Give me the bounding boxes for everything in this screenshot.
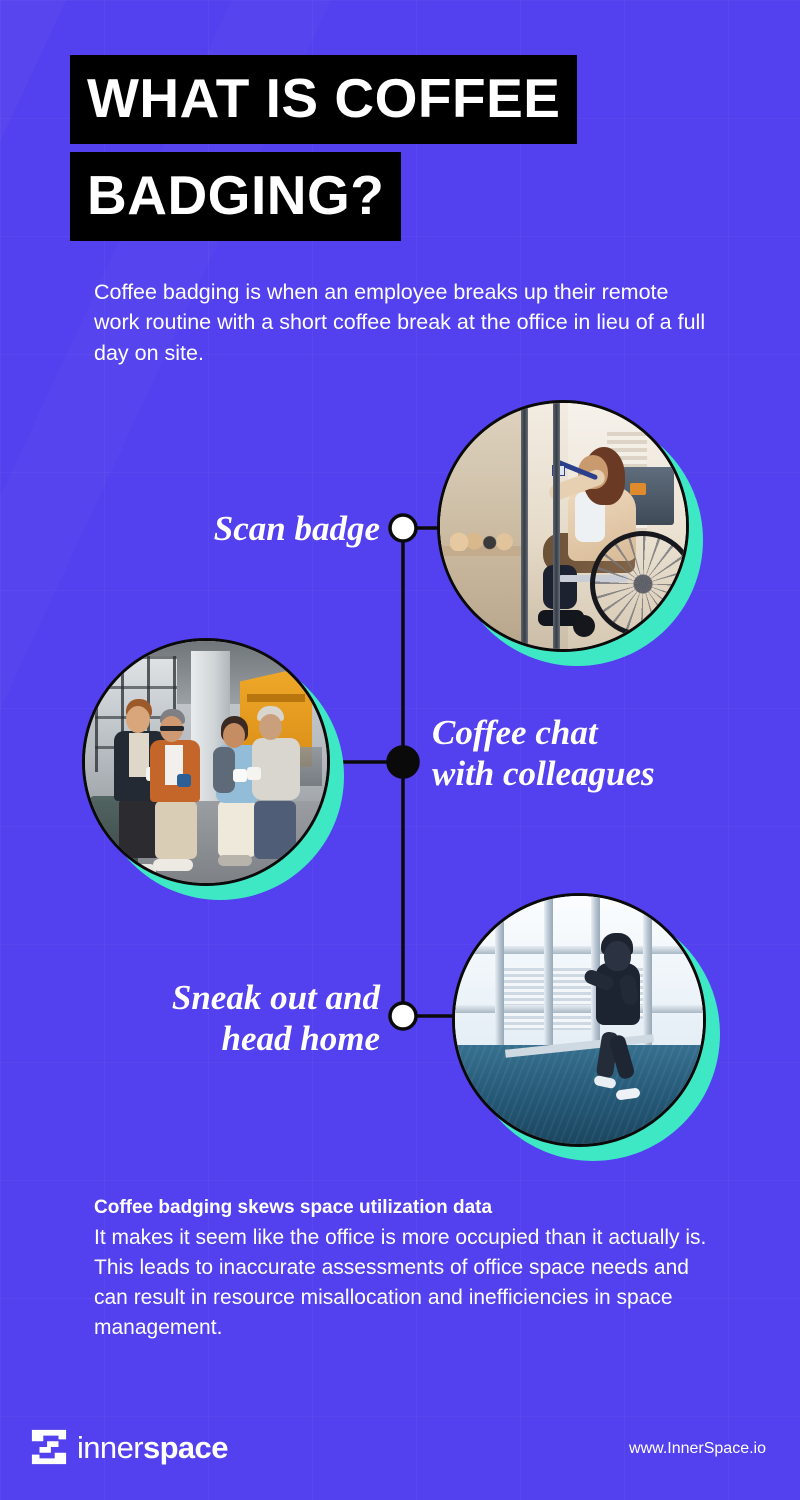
step-label-sneak-out: Sneak out and head home bbox=[0, 978, 380, 1059]
photo-sneak-out bbox=[452, 893, 706, 1147]
logo-word-inner: inner bbox=[77, 1430, 143, 1465]
photo-disc bbox=[82, 638, 330, 886]
footnote-heading: Coffee badging skews space utilization d… bbox=[94, 1194, 712, 1222]
step-label-scan-badge: Scan badge bbox=[0, 509, 380, 550]
node-coffee-chat bbox=[388, 747, 418, 777]
process-diagram: Scan badge Coffee chat with colleagues S… bbox=[0, 380, 800, 1180]
page-title: WHAT IS COFFEE BADGING? bbox=[70, 55, 740, 249]
footer-logo[interactable]: innerspace bbox=[30, 1428, 228, 1466]
intro-paragraph: Coffee badging is when an employee break… bbox=[94, 277, 714, 369]
title-line-1: WHAT IS COFFEE bbox=[70, 55, 577, 144]
step-label-coffee-chat: Coffee chat with colleagues bbox=[432, 713, 762, 794]
scene-colleagues bbox=[85, 641, 327, 883]
scene-badge-scan bbox=[440, 403, 686, 649]
innerspace-logo-icon bbox=[30, 1428, 68, 1466]
title-line-2: BADGING? bbox=[70, 152, 401, 241]
footnote-block: Coffee badging skews space utilization d… bbox=[94, 1194, 712, 1343]
photo-coffee-chat bbox=[82, 638, 330, 886]
scene-leaving-office bbox=[455, 896, 703, 1144]
footer-url[interactable]: www.InnerSpace.io bbox=[629, 1440, 766, 1458]
photo-disc bbox=[437, 400, 689, 652]
photo-scan-badge bbox=[437, 400, 689, 652]
node-scan-badge bbox=[390, 515, 416, 541]
infographic-poster: WHAT IS COFFEE BADGING? Coffee badging i… bbox=[0, 0, 800, 1500]
logo-word-space: space bbox=[143, 1430, 228, 1465]
footnote-body: It makes it seem like the office is more… bbox=[94, 1223, 712, 1343]
photo-disc bbox=[452, 893, 706, 1147]
innerspace-wordmark: innerspace bbox=[77, 1432, 228, 1463]
node-sneak-out bbox=[390, 1003, 416, 1029]
